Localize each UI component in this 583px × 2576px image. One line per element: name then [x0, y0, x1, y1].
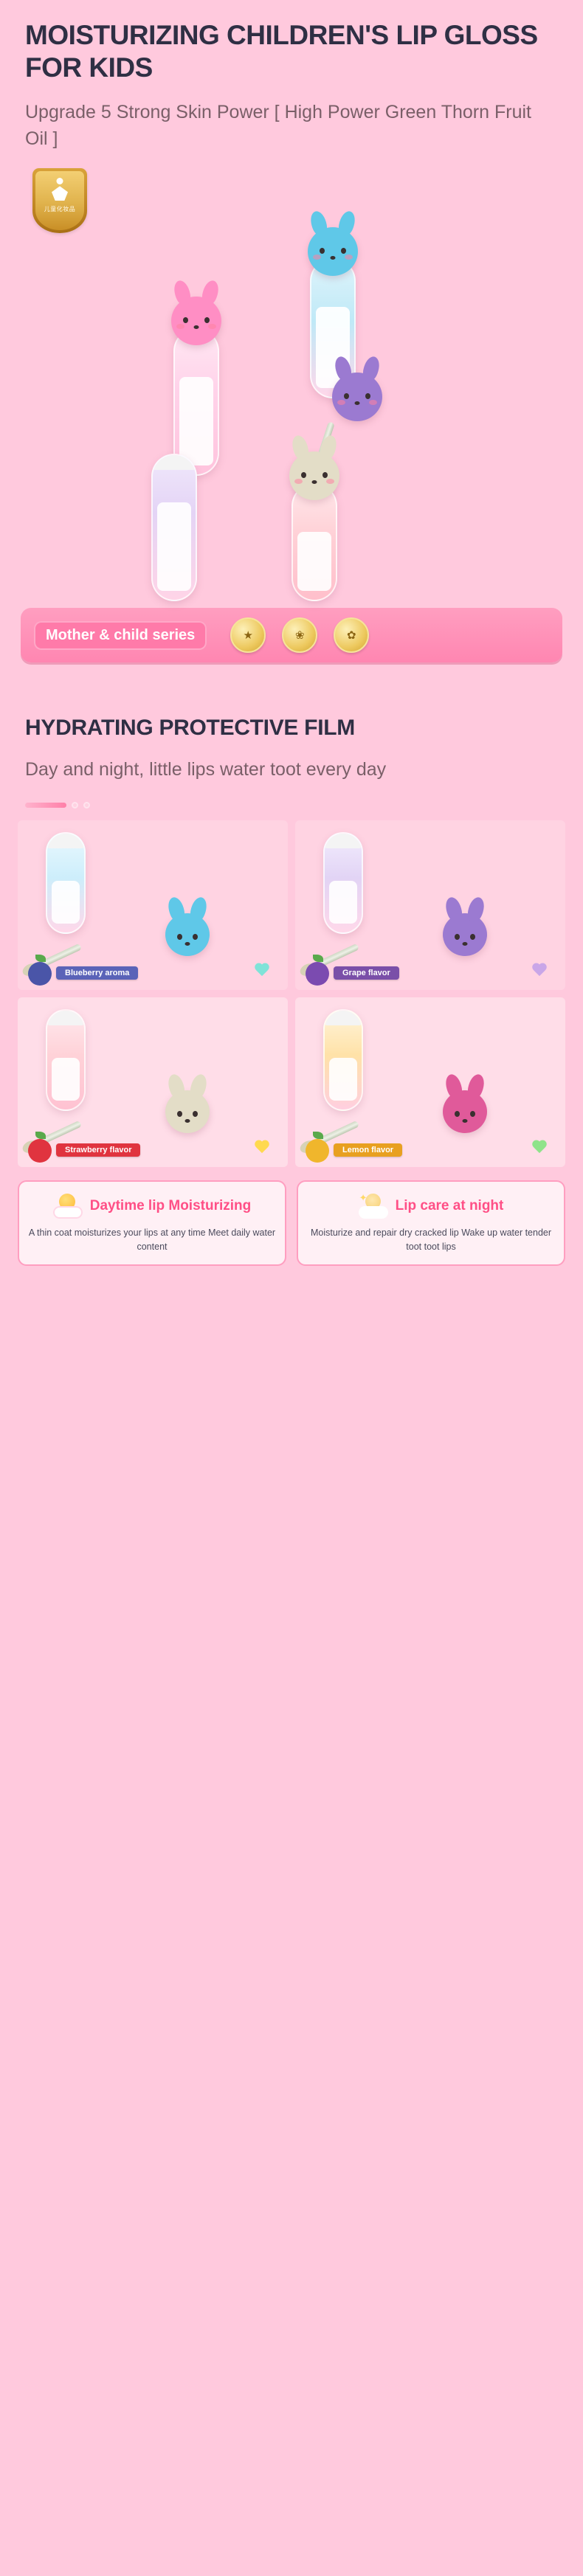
bunny-nose-icon [331, 256, 336, 260]
fruit-leaf [313, 1132, 323, 1139]
series-banner: Mother & child series ★ ❀ ✿ [21, 608, 562, 662]
tube-cap [153, 455, 196, 470]
card-body: A thin coat moisturizes your lips at any… [28, 1226, 276, 1254]
bunny-eye-left-icon [455, 934, 460, 940]
lemon-fruit-icon [303, 1130, 332, 1163]
pager-dot-2[interactable] [72, 802, 78, 809]
tube-label [157, 502, 191, 591]
benefit-cards: Daytime lip Moisturizing A thin coat moi… [18, 1180, 565, 1266]
bunny-eye-left-icon [455, 1111, 460, 1117]
card-daytime-lip-moisturizing: Daytime lip Moisturizing A thin coat moi… [18, 1180, 286, 1266]
bunny-ear-left-icon [308, 210, 330, 238]
flavor-cell-blueberry[interactable]: Blueberry aroma [18, 820, 288, 990]
tube-label [297, 532, 331, 591]
lemon-tube [323, 1009, 363, 1111]
card-header: Daytime lip Moisturizing [28, 1194, 276, 1219]
bunny-cheek-right-icon [345, 255, 353, 260]
bunny-cheek-left-icon [176, 324, 184, 329]
bunny-nose-icon [312, 480, 317, 484]
strawberry-bunny-cap [165, 1090, 210, 1133]
bunny-eye-left-icon [177, 1111, 182, 1117]
fruit-leaf [35, 1132, 46, 1139]
coin-quality: ★ [230, 617, 266, 653]
product-photo-group [0, 229, 583, 598]
bunny-ear-right-icon [188, 1073, 210, 1101]
bunny-ear-left-icon [444, 1073, 465, 1101]
hero-subtitle: Upgrade 5 Strong Skin Power [ High Power… [25, 100, 558, 152]
coin-safe: ❀ [282, 617, 317, 653]
bunny-eye-right-icon [341, 248, 346, 254]
card-title: Lip care at night [396, 1198, 504, 1214]
bunny-cheek-right-icon [208, 324, 216, 329]
bunny-nose-icon [185, 1119, 190, 1123]
fruit-body [28, 962, 52, 986]
heart-icon-lemon [531, 1140, 548, 1155]
blueberry-fruit-icon [25, 953, 55, 986]
section2-heading: HYDRATING PROTECTIVE FILM [25, 716, 558, 741]
bunny-eye-left-icon [301, 472, 306, 478]
bunny-eye-right-icon [193, 934, 198, 940]
tube-label [179, 377, 213, 465]
bunny-cheek-right-icon [326, 479, 334, 484]
sun-cloud-icon [53, 1194, 83, 1219]
bunny-ear-left-icon [166, 1073, 187, 1101]
lemon-bunny-cap [443, 1090, 487, 1133]
bunny-eye-left-icon [344, 393, 349, 399]
bunny-eye-left-icon [320, 248, 325, 254]
cream-bunny-cap [289, 451, 339, 500]
cloud-shape [53, 1206, 83, 1219]
bunny-cheek-left-icon [294, 479, 303, 484]
flavor-tag-lemon: Lemon flavor [334, 1143, 402, 1157]
flavor-tag-strawberry: Strawberry flavor [56, 1143, 140, 1157]
blueberry-bunny-cap [165, 913, 210, 956]
carousel-pager[interactable] [25, 802, 558, 809]
badge-inner: 儿童化妆品 [35, 171, 84, 230]
bunny-ear-right-icon [318, 434, 339, 462]
bunny-eye-right-icon [365, 393, 370, 399]
flavor-cell-strawberry[interactable]: Strawberry flavor [18, 997, 288, 1167]
product-detail-page: MOISTURIZING CHILDREN'S LIP GLOSS FOR KI… [0, 0, 583, 1266]
bunny-cheek-right-icon [369, 400, 377, 405]
tube-label [329, 881, 357, 924]
bunny-ear-left-icon [444, 896, 465, 924]
bunny-ear-right-icon [466, 1073, 487, 1101]
hydrating-section: HYDRATING PROTECTIVE FILM Day and night,… [0, 682, 583, 809]
blue-bunny-cap [308, 227, 358, 276]
bunny-ear-left-icon [290, 434, 311, 462]
flavor-cell-grape[interactable]: Grape flavor [295, 820, 565, 990]
cream-bunny-tube [291, 483, 337, 601]
bunny-nose-icon [355, 401, 360, 405]
bunny-ear-right-icon [188, 896, 210, 924]
tube-label [329, 1058, 357, 1101]
bunny-cheek-left-icon [337, 400, 345, 405]
strawberry-fruit-icon [25, 1130, 55, 1163]
bunny-nose-icon [194, 325, 199, 329]
bunny-eye-right-icon [204, 317, 210, 323]
coin-certified: ✿ [334, 617, 369, 653]
card-body: Moisturize and repair dry cracked lip Wa… [307, 1226, 555, 1254]
page-title: MOISTURIZING CHILDREN'S LIP GLOSS FOR KI… [25, 19, 558, 83]
bunny-nose-icon [463, 1119, 468, 1123]
flavor-tag-blueberry: Blueberry aroma [56, 966, 138, 980]
tube-label [52, 1058, 80, 1101]
tube-cap [325, 834, 362, 848]
bunny-ear-right-icon [361, 355, 382, 383]
bunny-nose-icon [463, 942, 468, 946]
flavor-tag-grape: Grape flavor [334, 966, 399, 980]
pager-active-bar[interactable] [25, 803, 66, 808]
coin-badges: ★ ❀ ✿ [230, 617, 369, 653]
safety-certification-badge: 儿童化妆品 [32, 168, 87, 233]
fruit-body [306, 1139, 329, 1163]
tube-cap [47, 1011, 84, 1025]
flavor-cell-lemon[interactable]: Lemon flavor [295, 997, 565, 1167]
fruit-leaf [313, 955, 323, 962]
bunny-ear-left-icon [172, 279, 193, 307]
badge-label: 儿童化妆品 [44, 205, 76, 213]
clear-purple-tube [151, 454, 197, 601]
bunny-nose-icon [185, 942, 190, 946]
bunny-ear-right-icon [466, 896, 487, 924]
tube-label [52, 881, 80, 924]
card-title: Daytime lip Moisturizing [90, 1198, 252, 1214]
bunny-eye-right-icon [470, 1111, 475, 1117]
child-figure-icon [50, 178, 69, 203]
bunny-eye-right-icon [470, 934, 475, 940]
bunny-ear-right-icon [200, 279, 221, 307]
pink-bunny-cap [171, 297, 221, 345]
cloud-shape [359, 1206, 388, 1219]
purple-bunny-cap [332, 373, 382, 421]
card-header: ✦ Lip care at night [307, 1194, 555, 1219]
fruit-body [306, 962, 329, 986]
bunny-eye-right-icon [322, 472, 328, 478]
bunny-eye-right-icon [193, 1111, 198, 1117]
grape-bunny-cap [443, 913, 487, 956]
heart-icon-strawberry [254, 1140, 270, 1155]
grape-tube [323, 832, 363, 934]
fruit-leaf [35, 955, 46, 962]
blueberry-tube [46, 832, 86, 934]
tube-cap [47, 834, 84, 848]
strawberry-tube [46, 1009, 86, 1111]
series-label: Mother & child series [34, 621, 207, 649]
hero-section: MOISTURIZING CHILDREN'S LIP GLOSS FOR KI… [0, 0, 583, 152]
heart-icon-grape [531, 963, 548, 978]
bunny-eye-left-icon [177, 934, 182, 940]
heart-icon-blueberry [254, 963, 270, 978]
flavor-grid: Blueberry aroma [18, 820, 565, 1167]
bunny-eye-left-icon [183, 317, 188, 323]
bunny-ear-left-icon [166, 896, 187, 924]
section2-text: Day and night, little lips water toot ev… [25, 757, 558, 783]
card-lip-care-at-night: ✦ Lip care at night Moisturize and repai… [297, 1180, 565, 1266]
tube-cap [325, 1011, 362, 1025]
moon-cloud-icon: ✦ [359, 1194, 388, 1219]
pager-dot-3[interactable] [83, 802, 90, 809]
fruit-body [28, 1139, 52, 1163]
bunny-cheek-left-icon [313, 255, 321, 260]
bunny-ear-right-icon [337, 210, 358, 238]
certification-badge-wrap: 儿童化妆品 [32, 168, 90, 233]
grape-fruit-icon [303, 953, 332, 986]
